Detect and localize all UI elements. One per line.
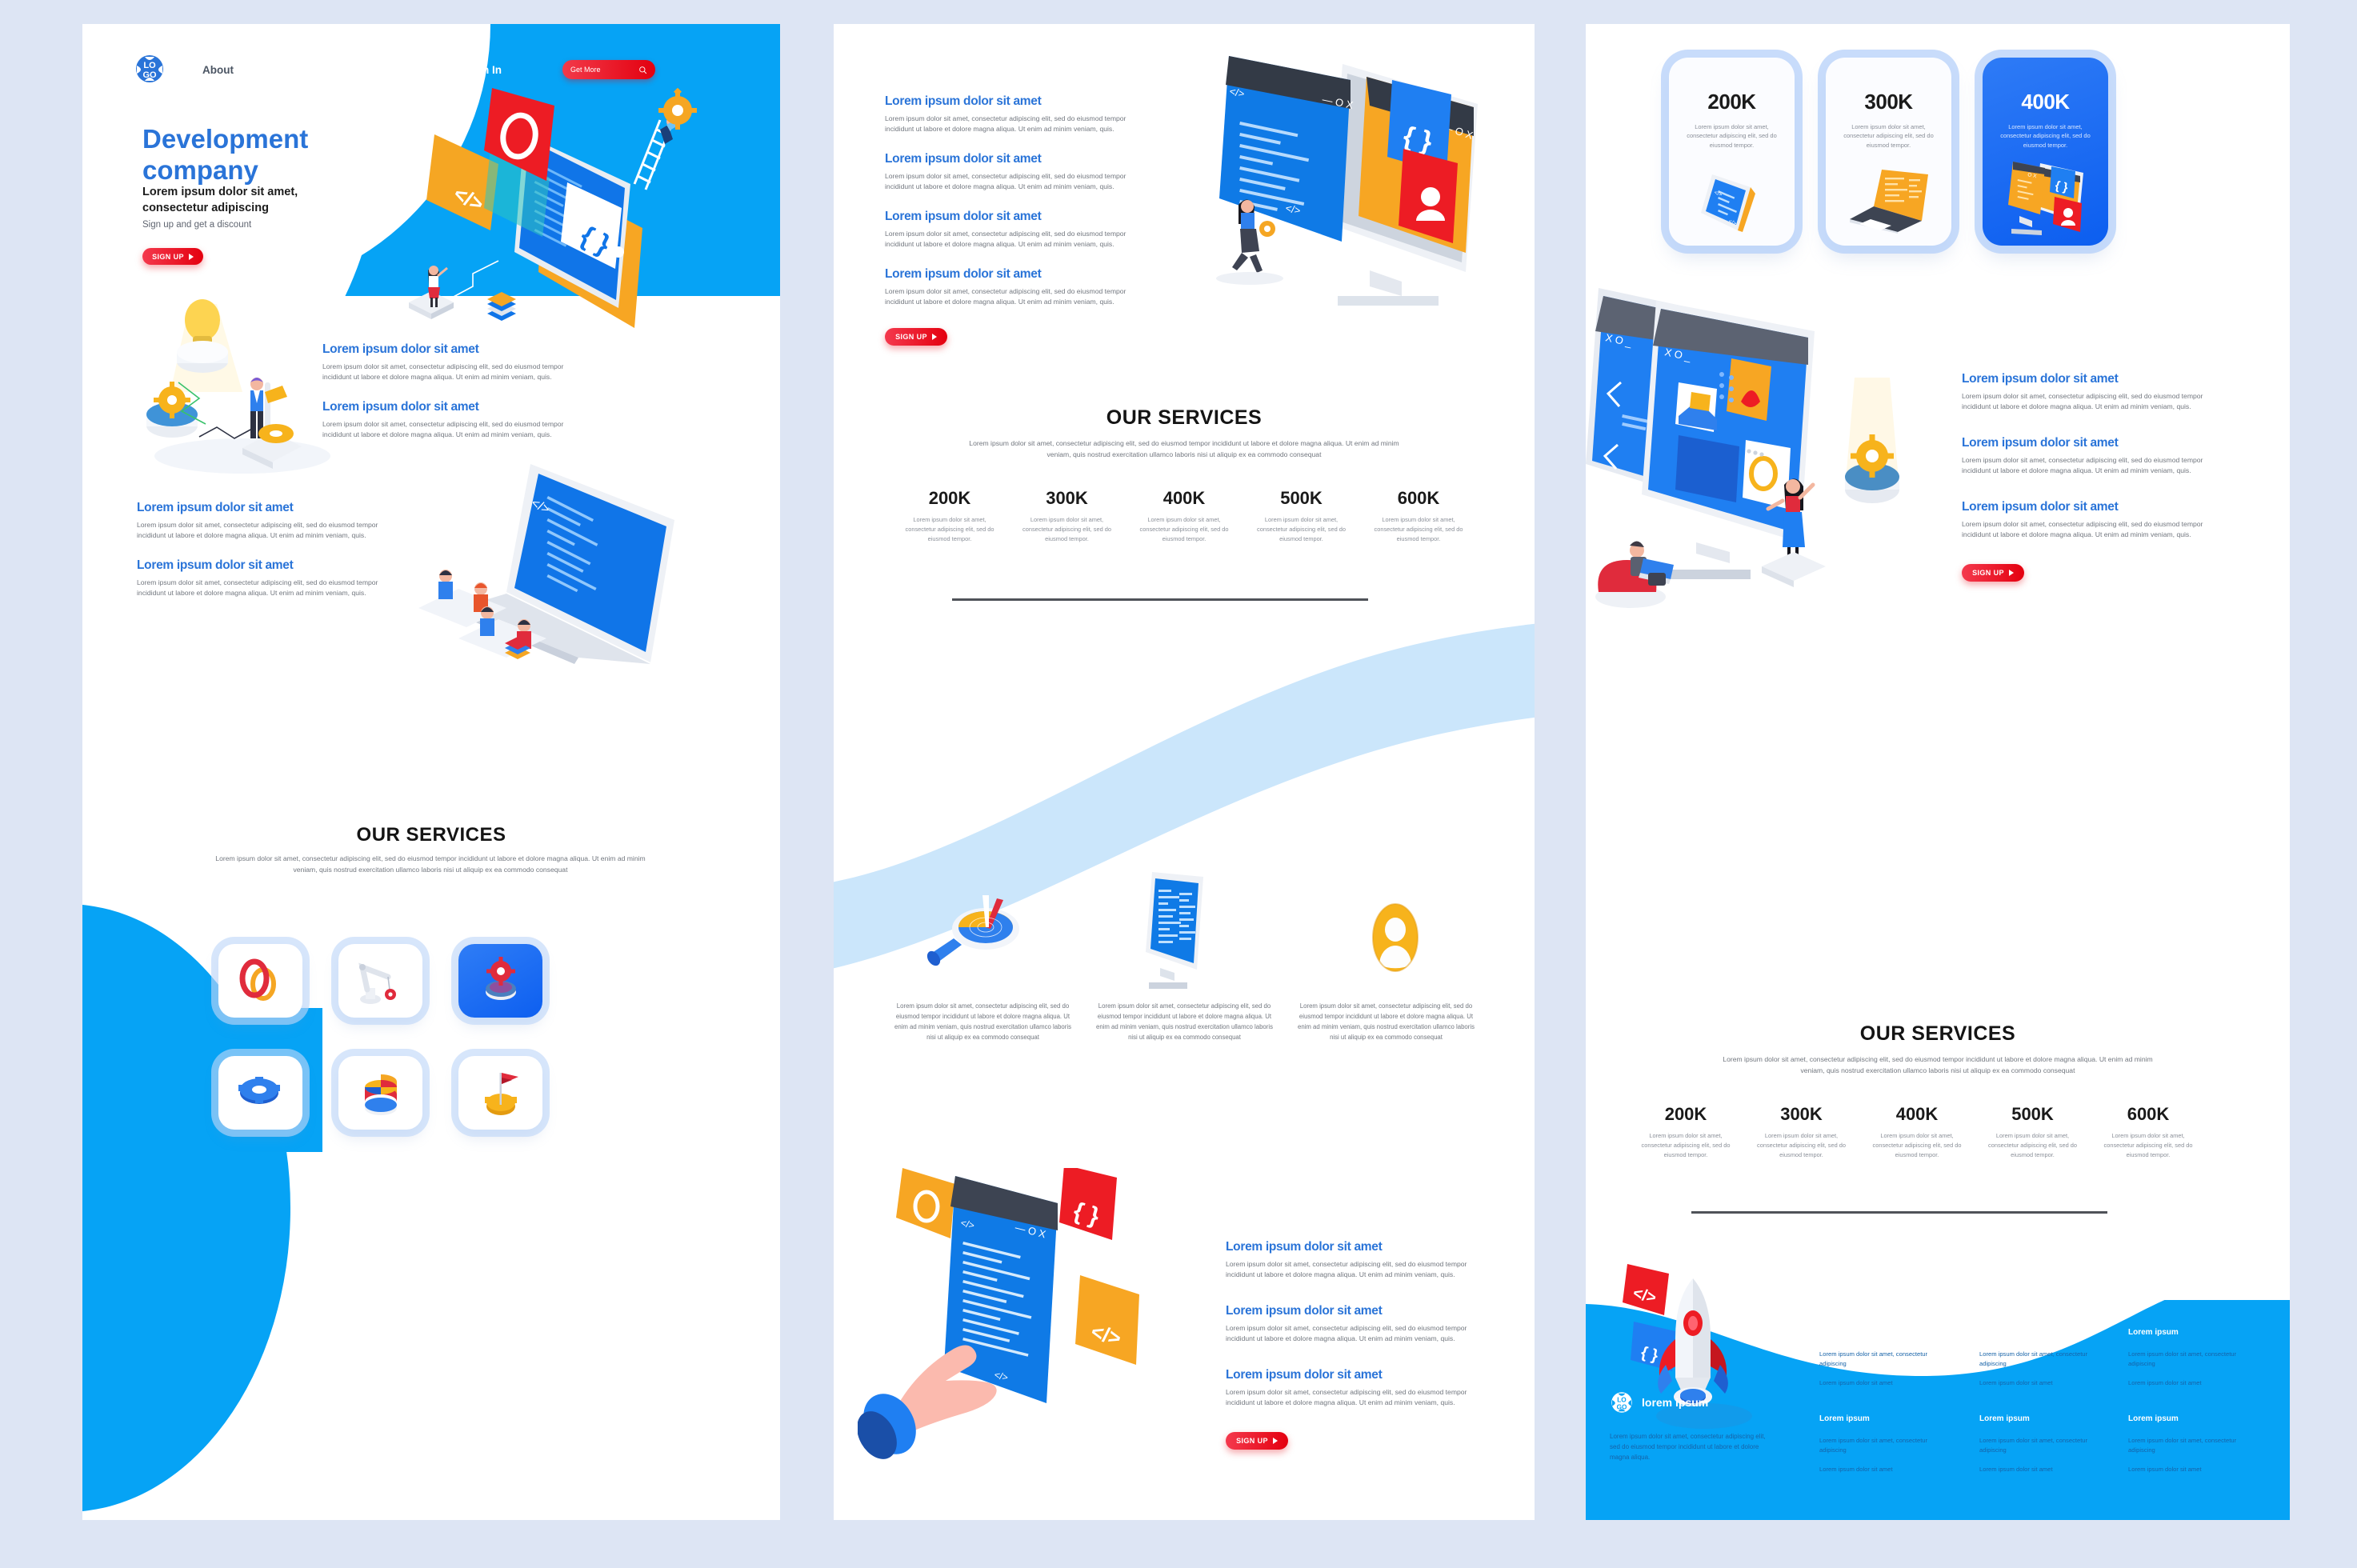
pricing-card-1[interactable]: 200K Lorem ipsum dolor sit amet, consect… — [1669, 58, 1795, 246]
p2-signup-button[interactable]: SIGN UP — [885, 328, 947, 346]
laptop-code-icon — [1845, 170, 1933, 234]
p2-bottom-feature-2: Lorem ipsum dolor sit amet Lorem ipsum d… — [1226, 1304, 1480, 1344]
service-card-3[interactable] — [458, 944, 542, 1018]
feature-title: Lorem ipsum dolor sit amet — [322, 342, 570, 356]
landing-page-panel-1: LO GO About Team Pricing Issues Sign In … — [82, 24, 780, 1520]
service-card-2[interactable] — [338, 944, 422, 1018]
footer-column-5: Lorem ipsum Lorem ipsum dolor sit amet, … — [1979, 1414, 2107, 1483]
feature-title: Lorem ipsum dolor sit amet — [137, 501, 385, 514]
feature-body: Lorem ipsum dolor sit amet, consectetur … — [885, 171, 1139, 192]
feature-body: Lorem ipsum dolor sit amet, consectetur … — [1226, 1259, 1480, 1280]
footer-about: Lorem ipsum dolor sit amet, consectetur … — [1610, 1432, 1770, 1462]
p2-divider — [952, 598, 1368, 601]
user-badge-icon — [1354, 888, 1442, 992]
footer-link[interactable]: Lorem ipsum dolor sit amet, consectetur … — [2128, 1350, 2256, 1369]
feature-block-1: Lorem ipsum dolor sit amet Lorem ipsum d… — [322, 342, 570, 382]
get-more-button[interactable]: Get More — [562, 60, 655, 79]
stat-item: 500K Lorem ipsum dolor sit amet, consect… — [1250, 488, 1354, 544]
feature-body: Lorem ipsum dolor sit amet, consectetur … — [322, 419, 570, 440]
pricing-desc: Lorem ipsum dolor sit amet, consectetur … — [1995, 122, 2095, 150]
feature-block-3: Lorem ipsum dolor sit amet Lorem ipsum d… — [137, 501, 385, 541]
lightbulb-gear-illustration — [122, 296, 362, 480]
feature-body: Lorem ipsum dolor sit amet, consectetur … — [1962, 391, 2226, 412]
feature-title: Lorem ipsum dolor sit amet — [322, 400, 570, 414]
p2-bottom-feature-1: Lorem ipsum dolor sit amet Lorem ipsum d… — [1226, 1240, 1480, 1280]
stat-item: 400K Lorem ipsum dolor sit amet, consect… — [1132, 488, 1236, 544]
feature-body: Lorem ipsum dolor sit amet, consectetur … — [137, 520, 385, 541]
service-card-6[interactable] — [458, 1056, 542, 1130]
feature-body: Lorem ipsum dolor sit amet, consectetur … — [885, 114, 1139, 134]
p2-signup-label: SIGN UP — [895, 333, 927, 341]
pricing-amount: 400K — [1983, 90, 2108, 114]
footer: </> { } LO — [1586, 1256, 2290, 1520]
stat-item: 300K Lorem ipsum dolor sit amet, consect… — [1015, 488, 1119, 544]
pricing-desc: Lorem ipsum dolor sit amet, consectetur … — [1682, 122, 1782, 150]
svg-text:GO: GO — [142, 70, 157, 80]
footer-link[interactable]: Lorem ipsum dolor sit amet, consectetur … — [1979, 1350, 2107, 1369]
pricing-card-2[interactable]: 300K Lorem ipsum dolor sit amet, consect… — [1826, 58, 1951, 246]
pie-chart-icon — [356, 1070, 406, 1116]
feature-block-4: Lorem ipsum dolor sit amet Lorem ipsum d… — [137, 558, 385, 598]
footer-link[interactable]: Lorem ipsum dolor sit amet, consectetur … — [2128, 1436, 2256, 1455]
stat-item: 200K Lorem ipsum dolor sit amet, consect… — [898, 488, 1002, 544]
hero-note: Sign up and get a discount — [142, 220, 251, 230]
footer-logo[interactable]: LO GO lorem ipsum — [1610, 1390, 1708, 1414]
footer-link[interactable]: Lorem ipsum dolor sit amet, consectetur … — [1819, 1350, 1947, 1369]
nav-item-pricing[interactable]: Pricing — [328, 64, 365, 76]
footer-column-1: Lorem ipsum Lorem ipsum dolor sit amet, … — [1819, 1328, 1947, 1397]
feature-title: Lorem ipsum dolor sit amet — [885, 210, 1139, 223]
footer-column-4: Lorem ipsum Lorem ipsum dolor sit amet, … — [1819, 1414, 1947, 1483]
svg-text:LO: LO — [1617, 1396, 1627, 1403]
nav-item-issues[interactable]: Issues — [398, 64, 432, 76]
footer-link[interactable]: Lorem ipsum dolor sit amet, consectetur … — [1979, 1436, 2107, 1455]
tablet-code-icon: </> </> — [1693, 170, 1773, 234]
team-laptop-illustration: </> — [410, 448, 730, 664]
pricing-amount: 200K — [1669, 90, 1795, 114]
p3-stats-row: 200K Lorem ipsum dolor sit amet, consect… — [1634, 1104, 2200, 1160]
p2-column-3-body: Lorem ipsum dolor sit amet, consectetur … — [1296, 1002, 1476, 1042]
monitor-windows-illustration: — O X — O X </> </> { } — [1202, 56, 1514, 312]
p3-services-heading: OUR SERVICES — [1586, 1022, 2290, 1046]
main-nav: About Team Pricing Issues Sign In Get Mo… — [202, 56, 762, 83]
p2-column-2-body: Lorem ipsum dolor sit amet, consectetur … — [1094, 1002, 1275, 1042]
pricing-amount: 300K — [1826, 90, 1951, 114]
p3-feature-3: Lorem ipsum dolor sit amet Lorem ipsum d… — [1962, 500, 2226, 540]
footer-column-6: Lorem ipsum Lorem ipsum dolor sit amet, … — [2128, 1414, 2256, 1483]
footer-column-heading: Lorem ipsum — [1979, 1414, 2107, 1423]
pricing-desc: Lorem ipsum dolor sit amet, consectetur … — [1839, 122, 1939, 150]
hero-signup-button[interactable]: SIGN UP — [142, 248, 203, 265]
stat-item: 400K Lorem ipsum dolor sit amet, consect… — [1865, 1104, 1969, 1160]
p2-column-1-body: Lorem ipsum dolor sit amet, consectetur … — [893, 1002, 1073, 1042]
feature-body: Lorem ipsum dolor sit amet, consectetur … — [1962, 455, 2226, 476]
play-arrow-icon — [1273, 1438, 1278, 1444]
feature-title: Lorem ipsum dolor sit amet — [1962, 372, 2226, 386]
services-heading: OUR SERVICES — [82, 824, 780, 846]
magnifier-pie-icon — [920, 884, 1040, 988]
search-icon — [638, 66, 647, 74]
p3-services-subtitle: Lorem ipsum dolor sit amet, consectetur … — [1714, 1054, 2162, 1077]
p2-services-heading: OUR SERVICES — [834, 406, 1535, 430]
footer-column-heading: Lorem ipsum — [2128, 1414, 2256, 1423]
feature-title: Lorem ipsum dolor sit amet — [1962, 500, 2226, 514]
logo-icon: LO GO — [1610, 1390, 1634, 1414]
footer-link[interactable]: Lorem ipsum dolor sit amet — [1819, 1465, 1947, 1474]
play-arrow-icon — [2009, 570, 2014, 576]
footer-column-heading: Lorem ipsum — [2128, 1328, 2256, 1337]
feature-title: Lorem ipsum dolor sit amet — [1962, 436, 2226, 450]
p2-services-subtitle: Lorem ipsum dolor sit amet, consectetur … — [960, 438, 1408, 461]
landing-page-panel-2: Lorem ipsum dolor sit amet Lorem ipsum d… — [834, 24, 1535, 1520]
feature-block-2: Lorem ipsum dolor sit amet Lorem ipsum d… — [322, 400, 570, 440]
red-gear-rings-icon — [234, 957, 287, 1005]
stat-item: 600K Lorem ipsum dolor sit amet, consect… — [1367, 488, 1471, 544]
feature-title: Lorem ipsum dolor sit amet — [885, 152, 1139, 166]
footer-column-2: Lorem ipsum Lorem ipsum dolor sit amet, … — [1979, 1328, 2107, 1397]
p2-feature-4: Lorem ipsum dolor sit amet Lorem ipsum d… — [885, 267, 1139, 307]
flag-goal-icon — [477, 1066, 525, 1119]
logo-icon[interactable]: LO GO — [134, 53, 166, 85]
feature-body: Lorem ipsum dolor sit amet, consectetur … — [1962, 519, 2226, 540]
footer-link[interactable]: Lorem ipsum dolor sit amet — [2128, 1465, 2256, 1474]
footer-link[interactable]: Lorem ipsum dolor sit amet — [1979, 1378, 2107, 1388]
monitor-stack-icon: O X O X { } — [2000, 162, 2095, 235]
services-subtitle: Lorem ipsum dolor sit amet, consectetur … — [206, 854, 654, 876]
hero-illustration: </> { } — [378, 88, 754, 328]
nav-item-signin[interactable]: Sign In — [466, 64, 502, 76]
feature-title: Lorem ipsum dolor sit amet — [1226, 1368, 1480, 1382]
stat-item: 500K Lorem ipsum dolor sit amet, consect… — [1981, 1104, 2085, 1160]
footer-link[interactable]: Lorem ipsum dolor sit amet — [2128, 1378, 2256, 1388]
p3-divider — [1691, 1211, 2107, 1214]
dual-monitor-dashboard-illustration: X O _ X O _ — [1586, 288, 1994, 608]
svg-text:LO: LO — [143, 61, 156, 70]
poster-canvas: LO GO About Team Pricing Issues Sign In … — [0, 0, 2357, 1568]
stat-item: 300K Lorem ipsum dolor sit amet, consect… — [1750, 1104, 1854, 1160]
footer-logo-text: lorem ipsum — [1642, 1396, 1708, 1409]
p2-stats-row: 200K Lorem ipsum dolor sit amet, consect… — [898, 488, 1471, 544]
feature-body: Lorem ipsum dolor sit amet, consectetur … — [1226, 1323, 1480, 1344]
p3-signup-label: SIGN UP — [1972, 569, 2004, 577]
play-arrow-icon — [932, 334, 937, 340]
svg-text:GO: GO — [1617, 1403, 1627, 1410]
get-more-label: Get More — [570, 66, 601, 74]
hero-signup-label: SIGN UP — [152, 253, 184, 261]
pricing-card-3[interactable]: 400K Lorem ipsum dolor sit amet, consect… — [1983, 58, 2108, 246]
robot-arm-icon — [354, 956, 407, 1006]
feature-title: Lorem ipsum dolor sit amet — [1226, 1240, 1480, 1254]
blue-gear-icon — [235, 1072, 286, 1114]
feature-title: Lorem ipsum dolor sit amet — [885, 267, 1139, 281]
p3-signup-button[interactable]: SIGN UP — [1962, 564, 2024, 582]
red-gear-bowl-icon — [475, 957, 526, 1005]
p3-feature-2: Lorem ipsum dolor sit amet Lorem ipsum d… — [1962, 436, 2226, 476]
play-arrow-icon — [189, 254, 194, 260]
footer-link[interactable]: Lorem ipsum dolor sit amet — [1979, 1465, 2107, 1474]
p2-feature-1: Lorem ipsum dolor sit amet Lorem ipsum d… — [885, 94, 1139, 134]
footer-link[interactable]: Lorem ipsum dolor sit amet, consectetur … — [1819, 1436, 1947, 1455]
feature-title: Lorem ipsum dolor sit amet — [1226, 1304, 1480, 1318]
monitor-code-icon — [1130, 872, 1234, 992]
p2-feature-2: Lorem ipsum dolor sit amet Lorem ipsum d… — [885, 152, 1139, 192]
service-card-4[interactable] — [218, 1056, 302, 1130]
nav-item-about[interactable]: About — [202, 64, 234, 76]
feature-body: Lorem ipsum dolor sit amet, consectetur … — [1226, 1387, 1480, 1408]
nav-item-team[interactable]: Team — [267, 64, 294, 76]
feature-body: Lorem ipsum dolor sit amet, consectetur … — [885, 286, 1139, 307]
stat-item: 600K Lorem ipsum dolor sit amet, consect… — [2096, 1104, 2200, 1160]
service-card-5[interactable] — [338, 1056, 422, 1130]
p2-bottom-feature-3: Lorem ipsum dolor sit amet Lorem ipsum d… — [1226, 1368, 1480, 1408]
feature-body: Lorem ipsum dolor sit amet, consectetur … — [885, 229, 1139, 250]
p2-bottom-signup-button[interactable]: SIGN UP — [1226, 1432, 1288, 1450]
footer-column-heading: Lorem ipsum — [1819, 1328, 1947, 1337]
landing-page-panel-3: 200K Lorem ipsum dolor sit amet, consect… — [1586, 24, 2290, 1520]
footer-column-3: Lorem ipsum Lorem ipsum dolor sit amet, … — [2128, 1328, 2256, 1397]
stat-item: 200K Lorem ipsum dolor sit amet, consect… — [1634, 1104, 1738, 1160]
hero-subtitle: Lorem ipsum dolor sit amet, consectetur … — [142, 184, 406, 216]
footer-column-heading: Lorem ipsum — [1979, 1328, 2107, 1337]
feature-body: Lorem ipsum dolor sit amet, consectetur … — [137, 578, 385, 598]
service-card-1[interactable] — [218, 944, 302, 1018]
p2-feature-3: Lorem ipsum dolor sit amet Lorem ipsum d… — [885, 210, 1139, 250]
footer-column-heading: Lorem ipsum — [1819, 1414, 1947, 1423]
footer-link[interactable]: Lorem ipsum dolor sit amet — [1819, 1378, 1947, 1388]
feature-title: Lorem ipsum dolor sit amet — [885, 94, 1139, 108]
feature-body: Lorem ipsum dolor sit amet, consectetur … — [322, 362, 570, 382]
p2-bottom-signup-label: SIGN UP — [1236, 1437, 1268, 1445]
hand-touch-code-illustration: — O X </> </> { } </> — [858, 1168, 1178, 1464]
feature-title: Lorem ipsum dolor sit amet — [137, 558, 385, 572]
p3-feature-1: Lorem ipsum dolor sit amet Lorem ipsum d… — [1962, 372, 2226, 412]
